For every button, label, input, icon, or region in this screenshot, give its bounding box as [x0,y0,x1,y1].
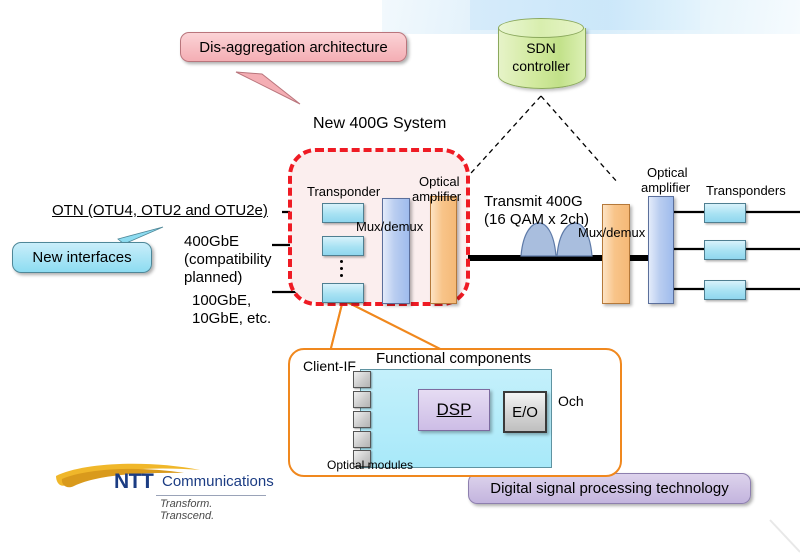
sdn-link-right [541,96,618,183]
ntt-communications-logo: NTT Communications Transform. Transcend. [52,462,267,524]
optical-amplifier-left[interactable] [430,196,457,304]
dsp-block[interactable]: DSP [418,389,490,431]
dsp-technology-callout-label: Digital signal processing technology [490,480,728,497]
client-if-label: Client-IF [303,358,356,374]
transponder-label: Transponder [307,184,380,199]
interface-label-planned: planned) [184,269,242,286]
mux-demux-left[interactable] [382,198,410,304]
och-label: Och [558,393,584,409]
transponder-ellipsis-dot-3 [340,274,343,277]
sdn-link-left [462,96,541,183]
mux-demux-left-label: Mux/demux [356,219,423,234]
sdn-controller-top [498,18,584,38]
new-interfaces-callout[interactable]: New interfaces [12,242,152,273]
eo-block[interactable]: E/O [503,391,547,433]
dsp-technology-callout[interactable]: Digital signal processing technology [468,473,751,504]
dis-aggregation-callout-tail [236,72,300,104]
dsp-label: DSP [437,400,472,420]
sdn-controller[interactable]: SDN controller [498,18,584,96]
interface-label-100gbe: 100GbE, [192,292,251,309]
transponder-right-2[interactable] [704,240,746,260]
optical-module-2[interactable] [353,391,371,408]
logo-tagline: Transform. Transcend. [160,498,267,522]
dis-aggregation-callout[interactable]: Dis-aggregation architecture [180,32,407,62]
mux-demux-right-label: Mux/demux [578,225,645,240]
transmit-400g-line2: (16 QAM x 2ch) [484,211,589,228]
optical-module-3[interactable] [353,411,371,428]
transmit-400g-line1: Transmit 400G [484,193,583,210]
new-interfaces-callout-label: New interfaces [32,249,131,266]
transponder-right-3[interactable] [704,280,746,300]
logo-communications-text: Communications [162,473,274,490]
sdn-controller-label-line2: controller [498,58,584,74]
new-400g-system-label: New 400G System [313,115,446,134]
logo-divider [156,495,266,496]
transponder-right-1[interactable] [704,203,746,223]
functional-components-title: Functional components [376,350,531,367]
interface-label-400gbe: 400GbE [184,233,239,250]
interface-label-otn: OTN (OTU4, OTU2 and OTU2e) [52,202,268,219]
optical-amplifier-right[interactable] [602,204,630,304]
interface-label-compatibility: (compatibility [184,251,272,268]
optical-amplifier-left-label-line1: Optical [419,174,459,189]
eo-label: E/O [512,404,538,421]
optical-amplifier-right-label-line2: amplifier [641,180,690,195]
transponders-right-label: Transponders [706,183,786,198]
interface-label-10gbe: 10GbE, etc. [192,310,271,327]
transponder-3[interactable] [322,283,364,303]
optical-module-1[interactable] [353,371,371,388]
optical-modules-label: Optical modules [327,459,413,473]
optical-amplifier-left-label-line2: amplifier [412,189,461,204]
dis-aggregation-callout-label: Dis-aggregation architecture [199,39,387,56]
slide-canvas: New 400G System Transponder Mux/demux Op… [0,0,800,554]
sdn-controller-label-line1: SDN [498,40,584,56]
logo-ntt-text: NTT [114,470,153,494]
optical-amplifier-right-label-line1: Optical [647,165,687,180]
transponder-ellipsis-dot-1 [340,260,343,263]
decorative-corner-line [770,520,800,552]
mux-demux-right[interactable] [648,196,674,304]
optical-module-4[interactable] [353,431,371,448]
transponder-2[interactable] [322,236,364,256]
transponder-ellipsis-dot-2 [340,267,343,270]
